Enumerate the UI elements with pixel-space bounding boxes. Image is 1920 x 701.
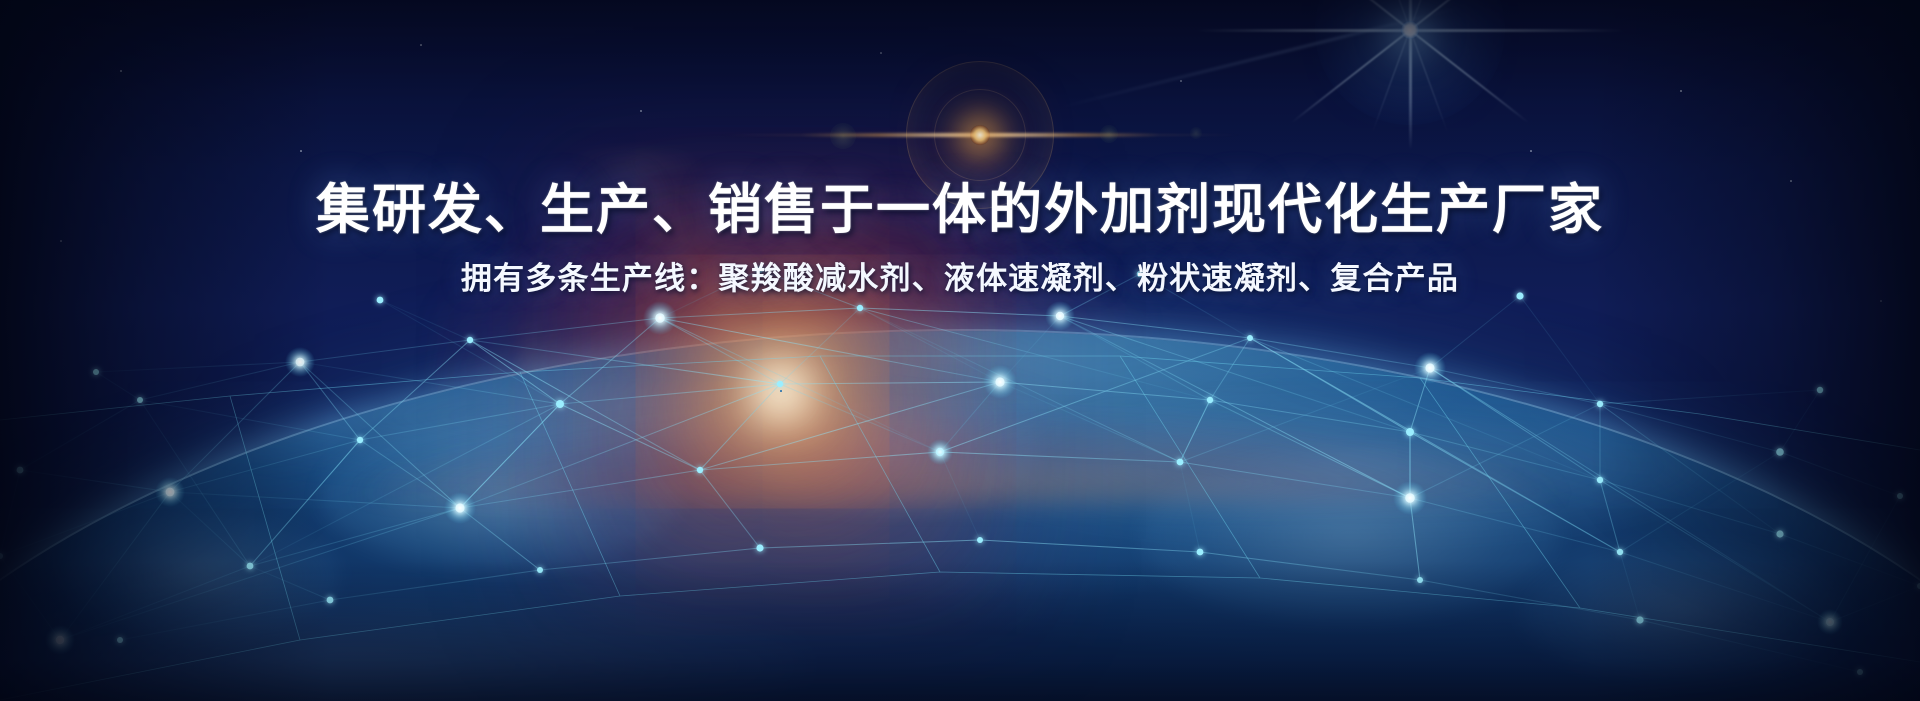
- earth-horizon-icon: [0, 331, 1920, 701]
- star-speck: [300, 150, 302, 152]
- top-vignette: [0, 0, 1920, 170]
- star-speck: [1880, 300, 1882, 302]
- banner-subheadline: 拥有多条生产线：聚羧酸减水剂、液体速凝剂、粉状速凝剂、复合产品: [0, 258, 1920, 300]
- star-speck: [1530, 150, 1532, 152]
- star-speck: [1180, 80, 1182, 82]
- star-speck: [640, 110, 642, 112]
- banner-copy: 集研发、生产、销售于一体的外加剂现代化生产厂家 拥有多条生产线：聚羧酸减水剂、液…: [0, 176, 1920, 300]
- star-speck: [120, 70, 122, 72]
- banner-headline: 集研发、生产、销售于一体的外加剂现代化生产厂家: [0, 176, 1920, 244]
- hero-banner: 集研发、生产、销售于一体的外加剂现代化生产厂家 拥有多条生产线：聚羧酸减水剂、液…: [0, 0, 1920, 701]
- star-speck: [880, 52, 882, 54]
- star-speck: [1680, 90, 1682, 92]
- star-speck: [420, 44, 422, 46]
